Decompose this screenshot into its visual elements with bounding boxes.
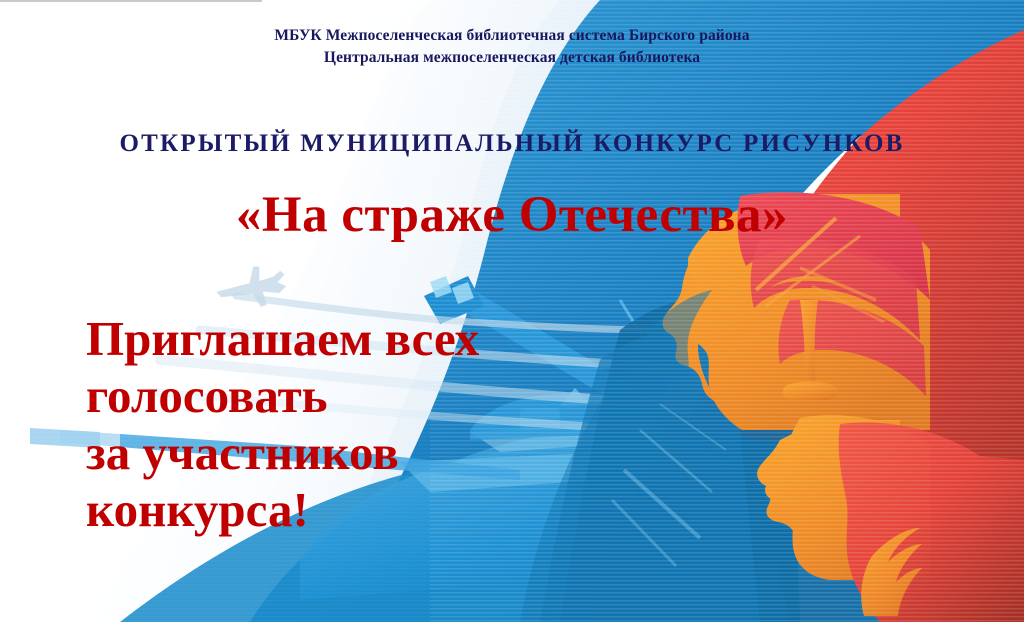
organization-line-1: МБУК Межпоселенческая библиотечная систе…: [0, 25, 1024, 47]
invitation-line-4: конкурса!: [86, 481, 479, 538]
invitation-line-1: Приглашаем всех: [86, 310, 479, 367]
top-edge-hairline: [0, 0, 262, 2]
contest-kicker: ОТКРЫТЫЙ МУНИЦИПАЛЬНЫЙ КОНКУРС РИСУНКОВ: [0, 130, 1024, 158]
poster-canvas: МБУК Межпоселенческая библиотечная систе…: [0, 0, 1024, 622]
organization-line-2: Центральная межпоселенческая детская биб…: [0, 47, 1024, 69]
invitation-block: Приглашаем всех голосовать за участников…: [86, 310, 479, 538]
contest-title: «На страже Отечества»: [0, 186, 1024, 244]
invitation-line-2: голосовать: [86, 367, 479, 424]
organization-block: МБУК Межпоселенческая библиотечная систе…: [0, 25, 1024, 69]
invitation-line-3: за участников: [86, 424, 479, 481]
